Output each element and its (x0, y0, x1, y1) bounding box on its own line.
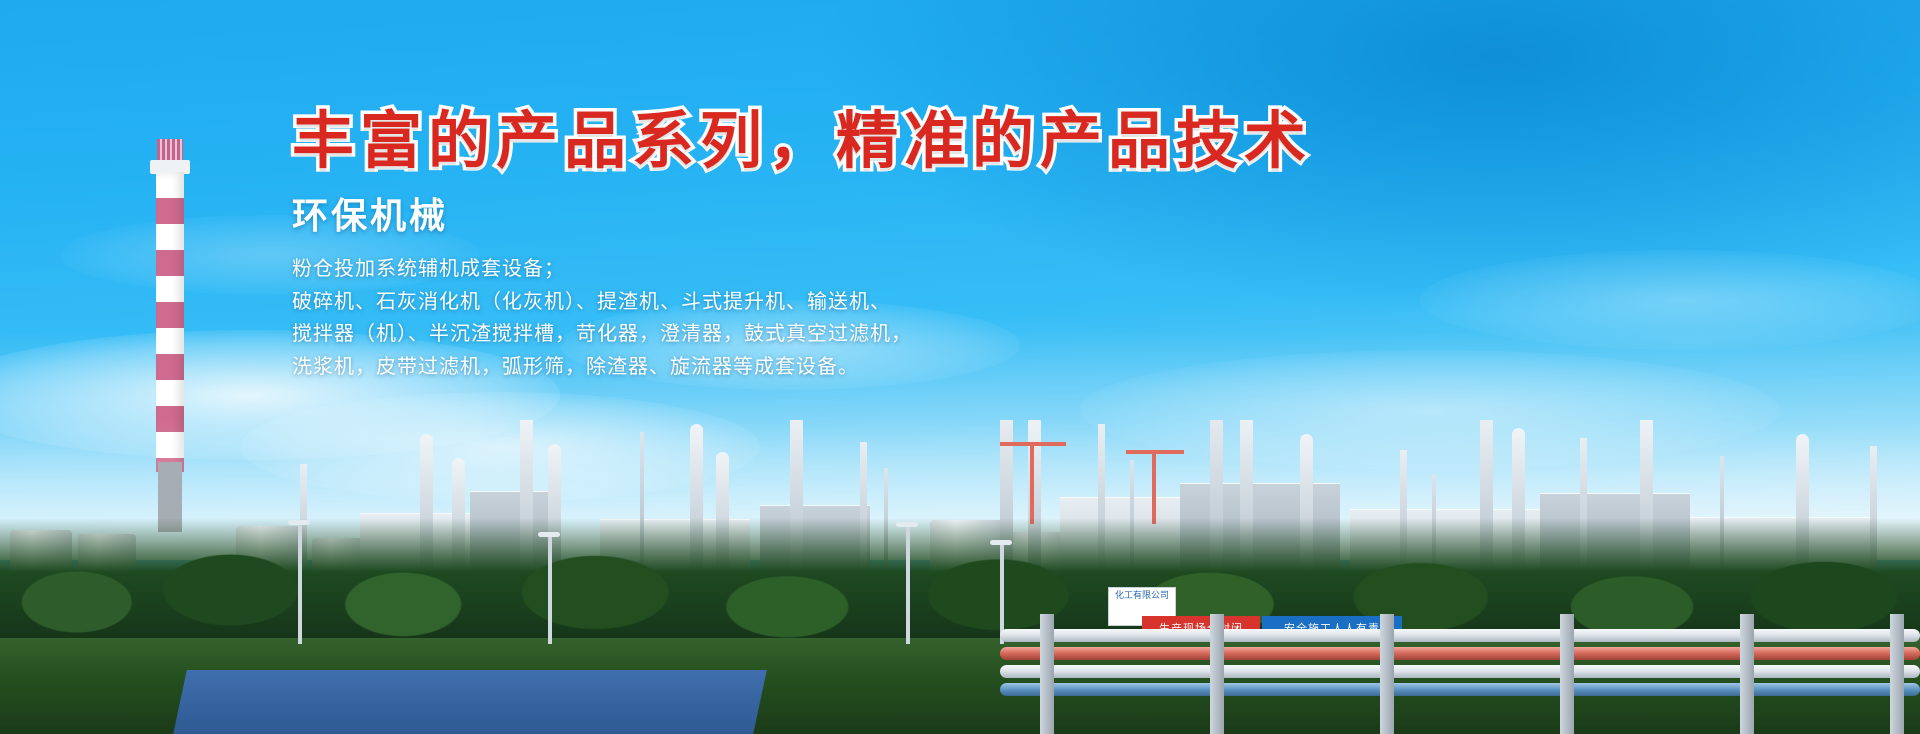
banner-subheadline: 环保机械 (292, 194, 1292, 237)
crane-jib (1000, 442, 1066, 446)
pipe-support (1560, 614, 1574, 734)
banner-description: 粉仓投加系统辅机成套设备； 破碎机、石灰消化机（化灰机）、提渣机、斗式提升机、输… (292, 253, 1292, 383)
crane-jib (1126, 450, 1184, 454)
crane-mast (1152, 452, 1156, 524)
pipe-support (1210, 614, 1224, 734)
crane-mast (1030, 444, 1034, 524)
pipe (1000, 629, 1920, 642)
pipe (1000, 647, 1920, 660)
pipe-support (1740, 614, 1754, 734)
description-line-1: 粉仓投加系统辅机成套设备； (292, 253, 1292, 285)
street-lamp (548, 536, 552, 644)
banner-copy: 丰富的产品系列，精准的产品技术 环保机械 粉仓投加系统辅机成套设备； 破碎机、石… (292, 108, 1292, 383)
pipe-support (1040, 614, 1054, 734)
pipe-rack (1000, 584, 1920, 734)
banner-headline: 丰富的产品系列，精准的产品技术 (292, 108, 1292, 176)
street-lamp (906, 526, 910, 644)
street-lamp (298, 524, 302, 644)
pipe (1000, 665, 1920, 678)
description-line-3: 搅拌器（机）、半沉渣搅拌槽，苛化器，澄清器，鼓式真空过滤机， (292, 318, 1292, 350)
refinery-scene: 化工有限公司 生产现场全封闭 安全施工人人有责 (0, 420, 1920, 734)
site-road (173, 670, 767, 734)
pipe-support (1380, 614, 1394, 734)
promo-banner: 化工有限公司 生产现场全封闭 安全施工人人有责 丰富的产品系列，精准的产品技术 … (0, 0, 1920, 734)
pipe-support (1890, 614, 1904, 734)
description-line-4: 洗浆机，皮带过滤机，弧形筛，除渣器、旋流器等成套设备。 (292, 351, 1292, 383)
pipe (1000, 683, 1920, 696)
description-line-2: 破碎机、石灰消化机（化灰机）、提渣机、斗式提升机、输送机、 (292, 286, 1292, 318)
